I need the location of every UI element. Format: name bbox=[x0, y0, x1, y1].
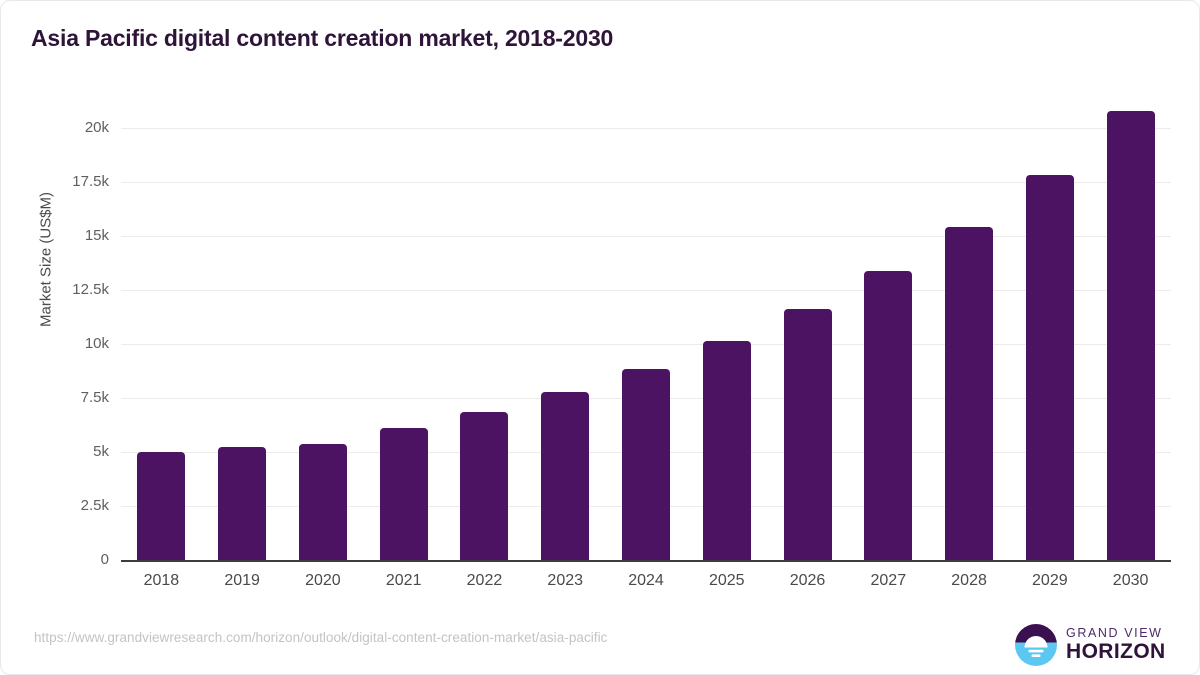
x-axis-tick-label: 2019 bbox=[202, 572, 283, 590]
plot-region: 02.5k5k7.5k10k12.5k15k17.5k20k 201820192… bbox=[121, 106, 1171, 560]
brand-logo[interactable]: GRAND VIEW HORIZON bbox=[1014, 621, 1166, 669]
bar-2024[interactable] bbox=[622, 369, 670, 560]
y-axis-tick-label: 5k bbox=[0, 443, 109, 460]
gridline bbox=[121, 128, 1171, 129]
x-axis-tick-label: 2027 bbox=[848, 572, 929, 590]
x-axis-line bbox=[121, 560, 1171, 562]
x-axis-tick-label: 2029 bbox=[1009, 572, 1090, 590]
gridline bbox=[121, 182, 1171, 183]
x-axis-tick-label: 2028 bbox=[929, 572, 1010, 590]
x-axis-tick-label: 2030 bbox=[1090, 572, 1171, 590]
gridline bbox=[121, 290, 1171, 291]
bar-2028[interactable] bbox=[945, 227, 993, 560]
brand-logo-text: GRAND VIEW HORIZON bbox=[1066, 626, 1166, 663]
x-axis-tick-label: 2021 bbox=[363, 572, 444, 590]
y-axis-tick-label: 0 bbox=[0, 551, 109, 568]
gridline bbox=[121, 344, 1171, 345]
source-url[interactable]: https://www.grandviewresearch.com/horizo… bbox=[34, 630, 607, 645]
y-axis-tick-label: 17.5k bbox=[0, 173, 109, 190]
bar-2018[interactable] bbox=[137, 452, 185, 560]
brand-logo-line1: GRAND VIEW bbox=[1066, 626, 1166, 640]
x-axis-tick-label: 2025 bbox=[686, 572, 767, 590]
x-axis-tick-label: 2020 bbox=[283, 572, 364, 590]
bar-2023[interactable] bbox=[541, 392, 589, 560]
y-axis-tick-label: 20k bbox=[0, 119, 109, 136]
gridline bbox=[121, 236, 1171, 237]
y-axis-tick-label: 2.5k bbox=[0, 497, 109, 514]
bar-2022[interactable] bbox=[460, 412, 508, 560]
horizon-sun-circle-icon bbox=[1014, 623, 1058, 667]
y-axis-tick-label: 7.5k bbox=[0, 389, 109, 406]
x-axis-tick-label: 2024 bbox=[606, 572, 687, 590]
x-axis-tick-label: 2023 bbox=[525, 572, 606, 590]
bar-2030[interactable] bbox=[1107, 111, 1155, 560]
brand-logo-line2: HORIZON bbox=[1066, 641, 1166, 663]
y-axis-tick-label: 12.5k bbox=[0, 281, 109, 298]
bar-2021[interactable] bbox=[380, 428, 428, 560]
bar-2020[interactable] bbox=[299, 444, 347, 560]
bar-2029[interactable] bbox=[1026, 175, 1074, 560]
y-axis-tick-label: 15k bbox=[0, 227, 109, 244]
chart-area: Market Size (US$M) 02.5k5k7.5k10k12.5k15… bbox=[1, 1, 1200, 675]
y-axis-tick-label: 10k bbox=[0, 335, 109, 352]
x-axis-tick-label: 2018 bbox=[121, 572, 202, 590]
bar-2025[interactable] bbox=[703, 341, 751, 560]
x-axis-tick-label: 2026 bbox=[767, 572, 848, 590]
chart-card: Asia Pacific digital content creation ma… bbox=[0, 0, 1200, 675]
bar-2026[interactable] bbox=[784, 309, 832, 560]
x-axis-tick-label: 2022 bbox=[444, 572, 525, 590]
bar-2019[interactable] bbox=[218, 447, 266, 561]
bar-2027[interactable] bbox=[864, 271, 912, 560]
